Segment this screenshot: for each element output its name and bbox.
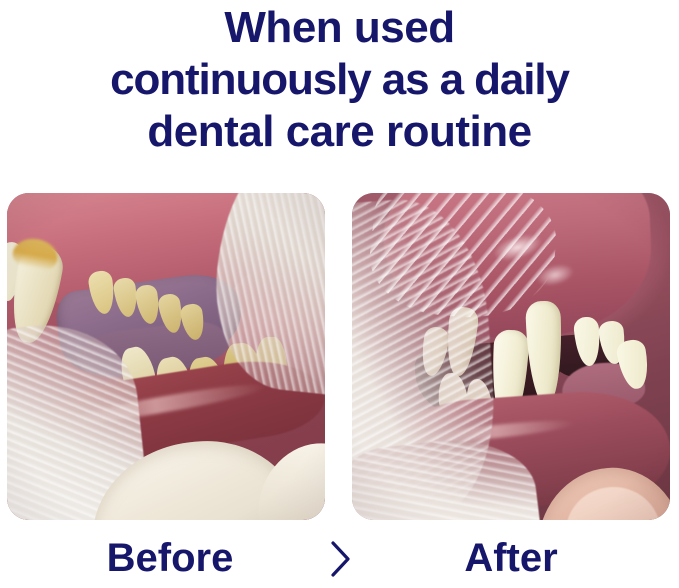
before-photo-panel (7, 193, 325, 520)
after-photo (352, 193, 670, 520)
before-label: Before (0, 532, 340, 584)
page-title: When used continuously as a daily dental… (0, 0, 679, 158)
before-photo (7, 193, 325, 520)
headline-line-3: dental care routine (0, 106, 679, 158)
before-after-comparison (0, 193, 679, 523)
headline-line-2: continuously as a daily (0, 54, 679, 106)
after-photo-panel (352, 193, 670, 520)
headline-line-1: When used (0, 2, 679, 54)
after-label: After (352, 532, 670, 584)
caption-row: Before After (0, 532, 679, 588)
